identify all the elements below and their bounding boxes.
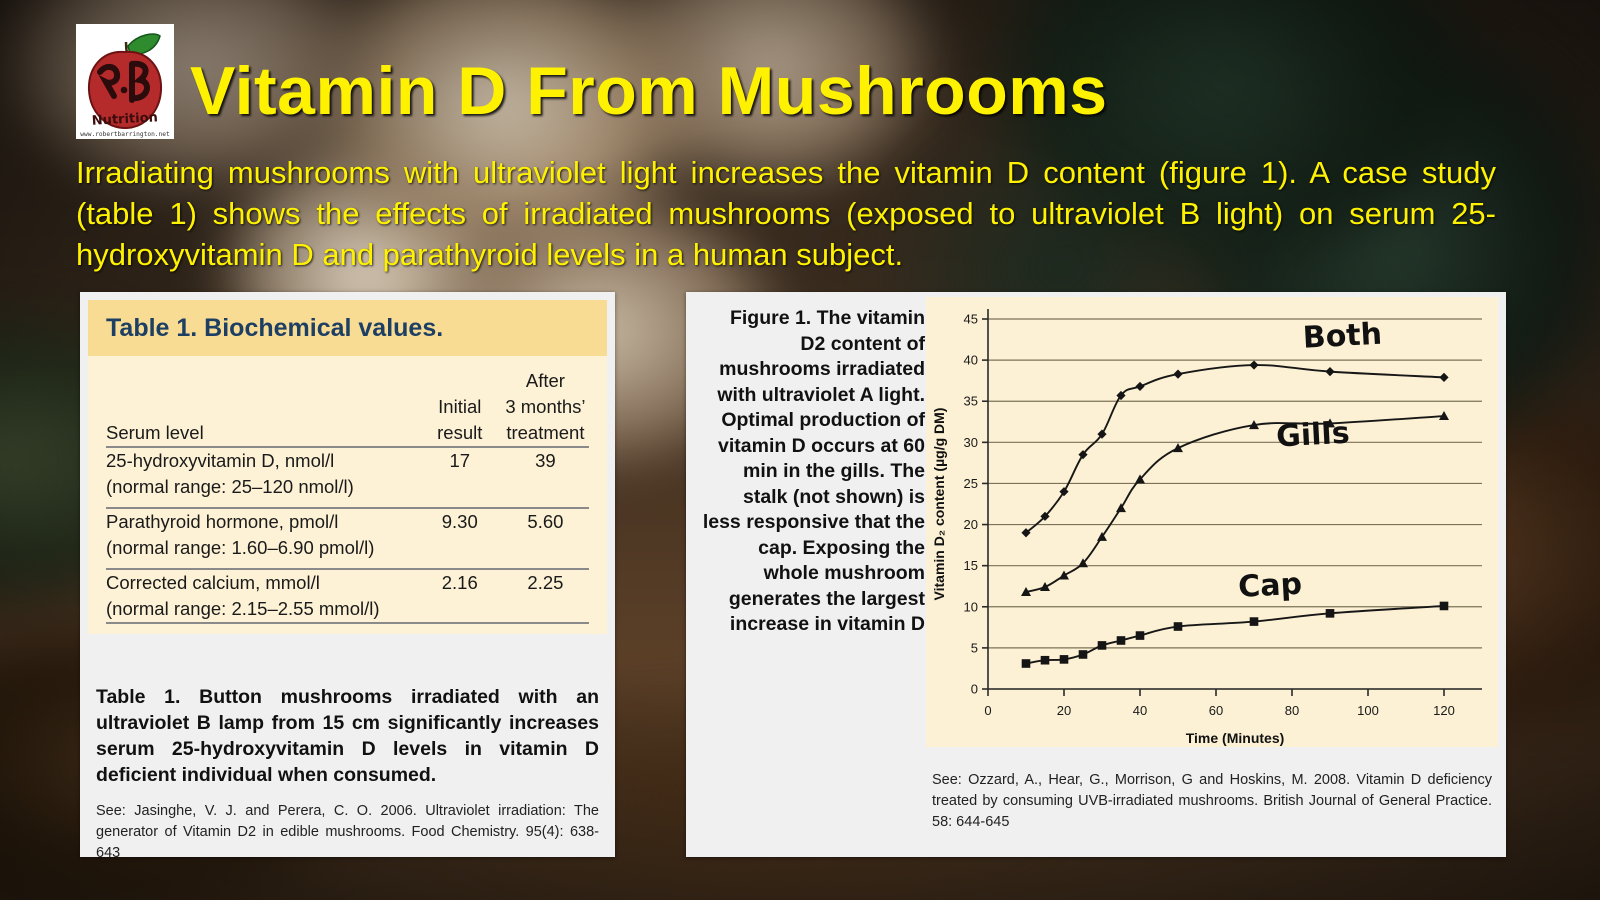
data-point bbox=[1060, 655, 1069, 664]
y-tick-label: 45 bbox=[964, 312, 978, 327]
table-header-row: Serum level Initial result After 3 month… bbox=[106, 368, 589, 447]
page-subtitle: Irradiating mushrooms with ultraviolet l… bbox=[76, 152, 1496, 275]
annotation-cap: Cap bbox=[1237, 567, 1302, 605]
figure-panel: Figure 1. The vitamin D2 content of mush… bbox=[686, 292, 1506, 857]
row-0-name: 25-hydroxyvitamin D, nmol/l bbox=[106, 450, 334, 471]
x-tick-label: 40 bbox=[1133, 703, 1147, 718]
data-point bbox=[1079, 650, 1088, 659]
col-head-after-line1: After bbox=[502, 368, 589, 394]
y-tick-label: 20 bbox=[964, 517, 978, 532]
data-point bbox=[1041, 656, 1050, 665]
table-title: Table 1. Biochemical values. bbox=[106, 314, 589, 343]
data-point bbox=[1136, 631, 1145, 640]
row-1-name-cell: Parathyroid hormone, pmol/l (normal rang… bbox=[106, 508, 418, 561]
table-row: Corrected calcium, mmol/l (normal range:… bbox=[106, 569, 589, 623]
data-point bbox=[1022, 659, 1031, 668]
row-2-name: Corrected calcium, mmol/l bbox=[106, 572, 320, 593]
row-spacer bbox=[106, 500, 589, 508]
row-1-initial: 9.30 bbox=[418, 508, 502, 561]
x-tick-label: 100 bbox=[1357, 703, 1379, 718]
row-1-after: 5.60 bbox=[502, 508, 589, 561]
col-head-serum-level: Serum level bbox=[106, 368, 418, 447]
row-0-name-cell: 25-hydroxyvitamin D, nmol/l (normal rang… bbox=[106, 447, 418, 500]
y-tick-label: 30 bbox=[964, 435, 978, 450]
header: Nutrition www.robertbarrington.net Vitam… bbox=[0, 0, 1600, 285]
table-card-header: Table 1. Biochemical values. bbox=[88, 300, 607, 356]
data-point bbox=[1174, 622, 1183, 631]
data-point bbox=[1117, 636, 1126, 645]
svg-text:www.robertbarrington.net: www.robertbarrington.net bbox=[80, 131, 170, 138]
row-spacer bbox=[106, 561, 589, 569]
apple-logo-icon: Nutrition www.robertbarrington.net bbox=[76, 24, 174, 139]
x-tick-label: 80 bbox=[1285, 703, 1299, 718]
annotation-both: Both bbox=[1302, 317, 1383, 356]
table-row: 25-hydroxyvitamin D, nmol/l (normal rang… bbox=[106, 447, 589, 500]
data-point bbox=[1440, 602, 1449, 611]
x-tick-label: 20 bbox=[1057, 703, 1071, 718]
table-row: Parathyroid hormone, pmol/l (normal rang… bbox=[106, 508, 589, 561]
row-2-after: 2.25 bbox=[502, 569, 589, 623]
table-card: Table 1. Biochemical values. Serum level… bbox=[88, 300, 607, 634]
y-tick-label: 40 bbox=[964, 353, 978, 368]
table-caption-block: Table 1. Button mushrooms irradiated wit… bbox=[80, 670, 615, 864]
brand-logo[interactable]: Nutrition www.robertbarrington.net bbox=[76, 24, 174, 139]
chart-container: 051015202530354045 020406080100120 BothG… bbox=[926, 297, 1498, 747]
x-tick-label: 60 bbox=[1209, 703, 1223, 718]
y-tick-label: 0 bbox=[971, 682, 978, 697]
y-tick-label: 15 bbox=[964, 558, 978, 573]
row-1-name: Parathyroid hormone, pmol/l bbox=[106, 511, 338, 532]
table-bottom-rule bbox=[106, 623, 589, 628]
col-head-after-line2: 3 months’ bbox=[502, 394, 589, 420]
annotation-gills: Gills bbox=[1275, 416, 1350, 455]
chart-x-axis-label: Time (Minutes) bbox=[1186, 730, 1285, 746]
col-head-after-line3: treatment bbox=[502, 420, 589, 446]
table-body: 25-hydroxyvitamin D, nmol/l (normal rang… bbox=[106, 447, 589, 628]
col-head-after: After 3 months’ treatment bbox=[502, 368, 589, 447]
data-point bbox=[1326, 609, 1335, 618]
page-title: Vitamin D From Mushrooms bbox=[190, 52, 1108, 130]
figure-caption-text: Figure 1. The vitamin D2 content of mush… bbox=[700, 306, 925, 638]
data-point bbox=[1250, 617, 1259, 626]
col-head-initial-line2: Initial bbox=[418, 394, 502, 420]
biochemical-values-table: Serum level Initial result After 3 month… bbox=[106, 368, 589, 628]
row-0-initial: 17 bbox=[418, 447, 502, 500]
y-tick-label: 25 bbox=[964, 476, 978, 491]
data-point bbox=[1098, 641, 1107, 650]
table-reference-text: See: Jasinghe, V. J. and Perera, C. O. 2… bbox=[96, 801, 599, 864]
table-body-wrap: Serum level Initial result After 3 month… bbox=[88, 356, 607, 634]
table-caption-text: Table 1. Button mushrooms irradiated wit… bbox=[96, 684, 599, 788]
row-0-range: (normal range: 25–120 nmol/l) bbox=[106, 474, 418, 500]
col-head-initial: Initial result bbox=[418, 368, 502, 447]
vitamin-d2-line-chart: 051015202530354045 020406080100120 BothG… bbox=[926, 297, 1498, 747]
row-2-range: (normal range: 2.15–2.55 mmol/l) bbox=[106, 596, 418, 622]
table-panel: Table 1. Biochemical values. Serum level… bbox=[80, 292, 615, 857]
y-tick-label: 10 bbox=[964, 599, 978, 614]
col-head-initial-line3: result bbox=[418, 420, 502, 446]
chart-background bbox=[926, 297, 1498, 747]
col-head-serum-level-line3: Serum level bbox=[106, 420, 418, 446]
chart-y-axis-label: Vitamin D₂ content (µg/g DM) bbox=[931, 408, 947, 601]
x-tick-label: 120 bbox=[1433, 703, 1455, 718]
row-2-name-cell: Corrected calcium, mmol/l (normal range:… bbox=[106, 569, 418, 623]
row-1-range: (normal range: 1.60–6.90 pmol/l) bbox=[106, 535, 418, 561]
row-2-initial: 2.16 bbox=[418, 569, 502, 623]
figure-reference-text: See: Ozzard, A., Hear, G., Morrison, G a… bbox=[932, 770, 1492, 833]
x-tick-label: 0 bbox=[984, 703, 991, 718]
row-0-after: 39 bbox=[502, 447, 589, 500]
y-tick-label: 35 bbox=[964, 394, 978, 409]
y-tick-label: 5 bbox=[971, 640, 978, 655]
